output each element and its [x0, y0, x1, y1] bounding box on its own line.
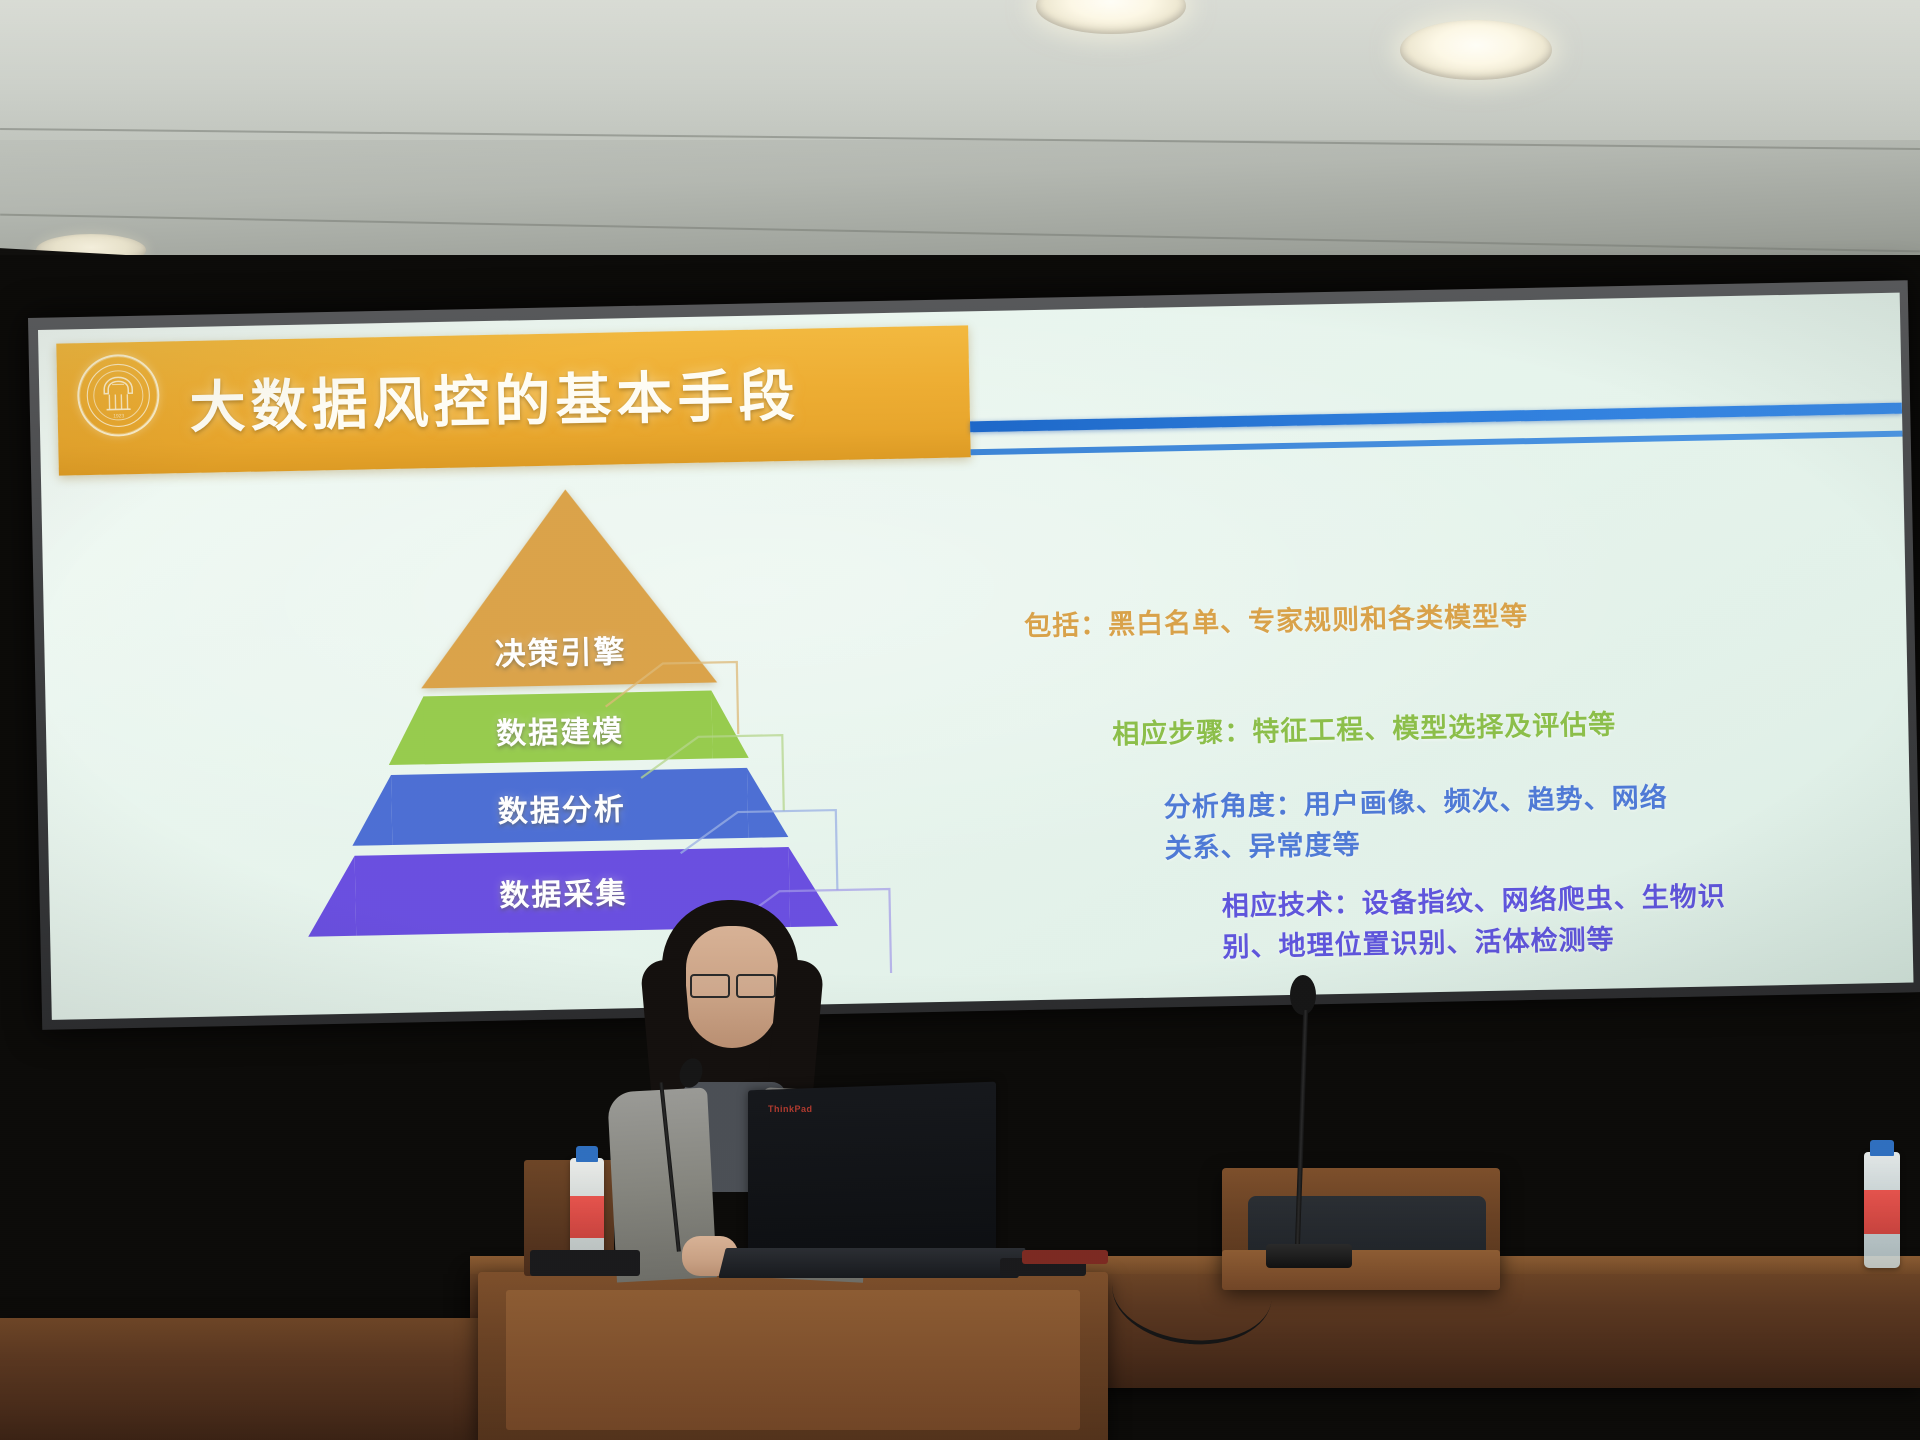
bottle-label: [1864, 1190, 1900, 1234]
desk-clutter: [530, 1250, 640, 1276]
pyramid-tier-3-right: [747, 767, 788, 838]
bottle-cap: [576, 1146, 598, 1162]
presenter-glasses: [690, 974, 730, 998]
bottle-label: [570, 1196, 604, 1238]
annotation-tier-4: 相应技术：设备指纹、网络爬虫、生物识 别、地理位置识别、活体检测等: [1221, 876, 1727, 968]
lecture-hall-photo: 1923 大数据风控的基本手段 决策引擎 数据建模 数据分析 数据采集: [0, 0, 1920, 1440]
stage-dais-left: [0, 1318, 520, 1440]
ceiling-seam: [0, 214, 1920, 253]
pyramid-tier-3-label: 数据分析: [497, 784, 626, 831]
annotation-tier-1: 包括：黑白名单、专家规则和各类模型等: [1024, 596, 1529, 647]
pyramid-diagram: 决策引擎 数据建模 数据分析 数据采集: [241, 483, 890, 966]
pyramid-tier-1-label: 决策引擎: [494, 626, 627, 674]
slide-title: 大数据风控的基本手段: [189, 351, 801, 444]
svg-text:1923: 1923: [113, 413, 124, 419]
desk-clutter-red: [1022, 1250, 1108, 1264]
ceiling-band: [0, 0, 1920, 140]
title-accent-rule-secondary: [971, 431, 1903, 456]
university-seal-icon: 1923: [77, 354, 161, 438]
pyramid-tier-3-left: [351, 775, 392, 846]
title-accent-rule: [970, 403, 1902, 433]
annotation-tier-2: 相应步骤：特征工程、模型选择及评估等: [1112, 704, 1617, 755]
annotation-tier-3: 分析角度：用户画像、频次、趋势、网络 关系、异常度等: [1163, 777, 1669, 869]
projected-slide: 1923 大数据风控的基本手段 决策引擎 数据建模 数据分析 数据采集: [38, 293, 1913, 1020]
pyramid-tier-2-right: [711, 690, 748, 759]
laptop-brand-label: ThinkPad: [768, 1104, 813, 1114]
pyramid-tier-4-left: [307, 856, 357, 937]
microphone-base: [1266, 1244, 1352, 1268]
laptop-keyboard-base: [718, 1248, 1025, 1278]
ceiling-light: [1400, 20, 1552, 80]
bottle-cap: [1870, 1140, 1894, 1156]
presenter-glasses: [736, 974, 776, 998]
pyramid-tier-2-label: 数据建模: [496, 706, 625, 753]
podium-front-panel: [506, 1290, 1080, 1430]
